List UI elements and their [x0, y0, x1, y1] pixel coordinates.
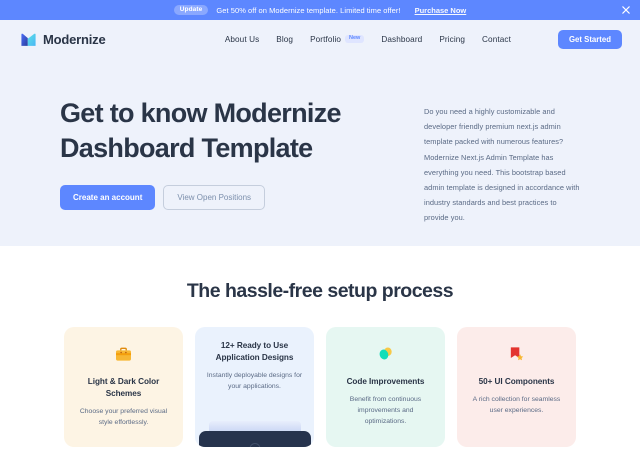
- nav-link-pricing[interactable]: Pricing: [439, 35, 465, 44]
- landing-page: Update Get 50% off on Modernize template…: [0, 0, 640, 451]
- feature-card-application-designs[interactable]: 12+ Ready to Use Application Designs Ins…: [195, 327, 314, 447]
- promo-message: Get 50% off on Modernize template. Limit…: [216, 6, 400, 15]
- hero-left: Get to know Modernize Dashboard Template…: [60, 96, 380, 225]
- feature-card-title: Code Improvements: [337, 376, 434, 388]
- device-camera-dot: [249, 443, 260, 447]
- view-open-positions-button[interactable]: View Open Positions: [163, 185, 265, 210]
- close-icon[interactable]: [620, 4, 632, 16]
- brand-name: Modernize: [43, 32, 105, 47]
- laptop-device-icon: [199, 421, 311, 447]
- device-screen: [209, 421, 301, 431]
- hero-right: Do you need a highly customizable and de…: [424, 96, 580, 225]
- feature-card-description: A rich collection for seamless user expe…: [468, 394, 565, 416]
- nav-link-dashboard[interactable]: Dashboard: [381, 35, 422, 44]
- promo-chip: Update: [174, 5, 209, 16]
- hero-actions: Create an account View Open Positions: [60, 185, 380, 210]
- features-section: The hassle-free setup process Light & Da…: [0, 246, 640, 447]
- nav-links: About Us Blog Portfolio New Dashboard Pr…: [225, 30, 622, 49]
- briefcase-icon: [75, 341, 172, 367]
- hero-title-line1: Get to know Modernize: [60, 98, 341, 128]
- feature-card-title: Light & Dark Color Schemes: [75, 376, 172, 400]
- hero-description: Do you need a highly customizable and de…: [424, 104, 580, 225]
- feature-card-title-line1: 12+ Ready to Use: [221, 341, 288, 350]
- feature-card-description: Benefit from continuous improvements and…: [337, 394, 434, 428]
- navbar: Modernize About Us Blog Portfolio New Da…: [0, 20, 640, 58]
- feature-card-ui-components[interactable]: 50+ UI Components A rich collection for …: [457, 327, 576, 447]
- feature-card-title: 50+ UI Components: [468, 376, 565, 388]
- device-base: [199, 431, 311, 447]
- create-account-button[interactable]: Create an account: [60, 185, 155, 210]
- feature-card-title: 12+ Ready to Use Application Designs: [206, 340, 303, 364]
- nav-link-portfolio[interactable]: Portfolio New: [310, 35, 364, 44]
- modernize-logo-icon: [20, 31, 37, 48]
- hero-title-line2: Dashboard Template: [60, 133, 312, 163]
- leaf-icon: [337, 341, 434, 367]
- nav-link-contact[interactable]: Contact: [482, 35, 511, 44]
- bookmark-star-icon: [468, 341, 565, 367]
- feature-card-description: Choose your preferred visual style effor…: [75, 406, 172, 428]
- nav-link-about-us[interactable]: About Us: [225, 35, 259, 44]
- feature-card-title-line2: Application Designs: [216, 353, 294, 362]
- promo-banner: Update Get 50% off on Modernize template…: [0, 0, 640, 20]
- nav-link-portfolio-label: Portfolio: [310, 35, 341, 44]
- page-title: Get to know Modernize Dashboard Template: [60, 96, 380, 166]
- get-started-button[interactable]: Get Started: [558, 30, 622, 49]
- hero-section: Modernize About Us Blog Portfolio New Da…: [0, 20, 640, 246]
- feature-card-color-schemes[interactable]: Light & Dark Color Schemes Choose your p…: [64, 327, 183, 447]
- hero-content: Get to know Modernize Dashboard Template…: [0, 58, 640, 225]
- feature-card-code-improvements[interactable]: Code Improvements Benefit from continuou…: [326, 327, 445, 447]
- promo-purchase-link[interactable]: Purchase Now: [415, 6, 467, 15]
- nav-link-blog[interactable]: Blog: [276, 35, 293, 44]
- feature-cards: Light & Dark Color Schemes Choose your p…: [0, 303, 640, 447]
- nav-badge-new: New: [345, 35, 364, 44]
- brand-logo[interactable]: Modernize: [20, 31, 105, 48]
- features-heading: The hassle-free setup process: [0, 280, 640, 303]
- feature-card-description: Instantly deployable designs for your ap…: [206, 370, 303, 392]
